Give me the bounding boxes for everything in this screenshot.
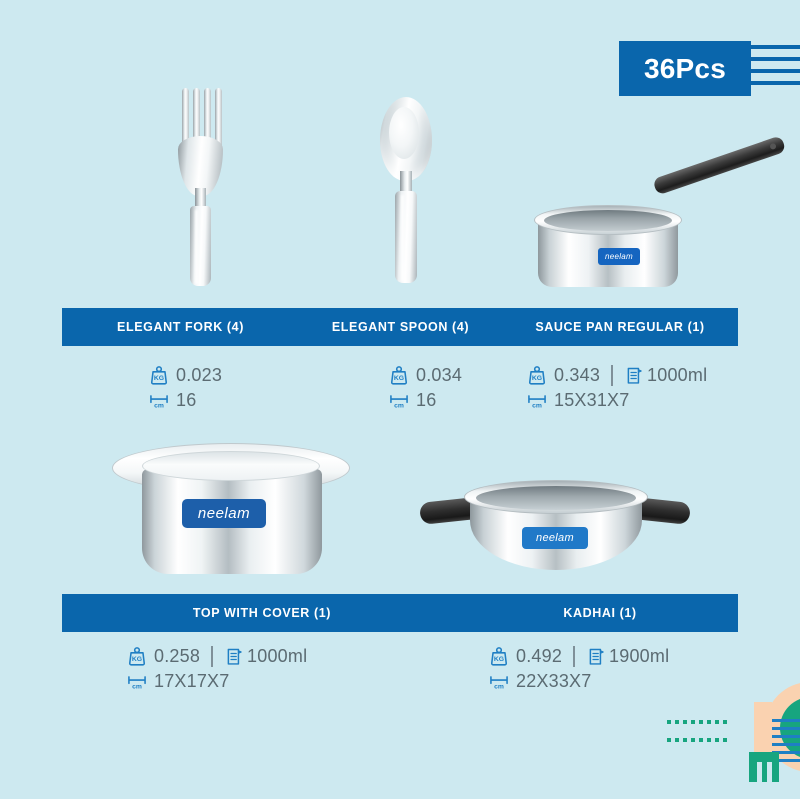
product-specs-kadhai: KG 0.492 1900ml cm 22X33X7 [488,645,669,695]
product-label-elegant-fork: ELEGANT FORK (4) [62,320,299,334]
spec-capacity-value: 1900ml [609,646,669,667]
spec-divider [611,365,613,386]
kadhai-interior [476,486,636,510]
product-image-top-with-cover: neelam [112,443,350,588]
svg-text:KG: KG [154,375,164,382]
deco-fork-shape [749,752,779,782]
brand-logo-badge: neelam [182,499,266,528]
spec-weight-value: 0.023 [176,365,222,386]
spec-weight-value: 0.258 [154,646,200,667]
kg-weight-icon: KG [126,645,148,667]
spec-length-line: cm 16 [148,389,222,411]
sauce-pan-interior [544,210,672,231]
piece-count-label: 36Pcs [644,55,726,83]
fork-head [178,136,223,196]
svg-text:KG: KG [132,656,142,663]
svg-text:KG: KG [494,656,504,663]
kg-weight-icon: KG [148,364,170,386]
kg-weight-icon: KG [488,645,510,667]
brand-logo-text: neelam [598,248,640,265]
cm-ruler-icon: cm [488,670,510,692]
spec-weight-capacity-line: KG 0.343 1000ml [526,364,707,386]
svg-text:cm: cm [494,683,504,690]
top-cover-lid-inner [142,451,320,481]
product-image-sauce-pan: neelam [530,175,795,290]
spec-length-value: 16 [416,390,436,411]
badge-accent-lines [750,45,800,93]
cm-ruler-icon: cm [148,389,170,411]
spec-dimensions-line: cm 15X31X7 [526,389,707,411]
spec-weight-value: 0.492 [516,646,562,667]
product-label-elegant-spoon: ELEGANT SPOON (4) [299,320,502,334]
product-label-sauce-pan: SAUCE PAN REGULAR (1) [502,320,738,334]
spec-dimensions-line: cm 22X33X7 [488,670,669,692]
product-label-bar-row-1: ELEGANT FORK (4) ELEGANT SPOON (4) SAUCE… [62,308,738,346]
product-specs-sauce-pan: KG 0.343 1000ml cm 15X31X7 [526,364,707,414]
measuring-jug-icon [224,646,245,667]
kg-weight-icon: KG [526,364,548,386]
svg-text:cm: cm [154,402,164,409]
kg-weight-icon: KG [388,364,410,386]
corner-decoration [650,690,800,799]
product-label-kadhai: KADHAI (1) [462,606,738,620]
spec-weight-value: 0.034 [416,365,462,386]
deco-dot-grid [667,716,731,752]
spec-weight-line: KG 0.023 [148,364,222,386]
svg-text:cm: cm [532,402,542,409]
spec-weight-capacity-line: KG 0.492 1900ml [488,645,669,667]
brand-logo-badge: neelam [522,527,588,549]
spec-divider [211,646,213,667]
piece-count-badge: 36Pcs [619,41,751,96]
svg-text:cm: cm [394,402,404,409]
svg-text:KG: KG [532,375,542,382]
product-image-elegant-fork [168,88,238,283]
spec-capacity-value: 1000ml [247,646,307,667]
product-image-elegant-spoon [378,97,436,283]
measuring-jug-icon [586,646,607,667]
measuring-jug-icon [624,365,645,386]
brand-logo-text: neelam [536,532,574,544]
product-label-bar-row-2: TOP WITH COVER (1) KADHAI (1) [62,594,738,632]
spec-weight-line: KG 0.034 [388,364,462,386]
spec-length-line: cm 16 [388,389,462,411]
product-image-kadhai: neelam [420,472,690,582]
infographic-canvas: 36Pcs neelam neelam [0,0,800,799]
spec-capacity-value: 1000ml [647,365,707,386]
svg-text:cm: cm [132,683,142,690]
brand-logo-badge: neelam [598,248,640,265]
spec-weight-value: 0.343 [554,365,600,386]
product-specs-elegant-fork: KG 0.023 cm 16 [148,364,222,414]
spoon-bowl [380,97,432,181]
spec-dimensions-value: 17X17X7 [154,671,229,692]
brand-logo-text: neelam [198,505,250,522]
spec-dimensions-value: 15X31X7 [554,390,629,411]
cm-ruler-icon: cm [126,670,148,692]
sauce-pan-handle [652,135,786,195]
spec-length-value: 16 [176,390,196,411]
svg-text:KG: KG [394,375,404,382]
spoon-handle [395,191,417,283]
spec-dimensions-line: cm 17X17X7 [126,670,307,692]
spec-divider [573,646,575,667]
cm-ruler-icon: cm [388,389,410,411]
spec-dimensions-value: 22X33X7 [516,671,591,692]
spec-weight-capacity-line: KG 0.258 1000ml [126,645,307,667]
fork-handle [190,206,211,286]
cm-ruler-icon: cm [526,389,548,411]
product-label-top-with-cover: TOP WITH COVER (1) [62,606,462,620]
product-specs-top-with-cover: KG 0.258 1000ml cm 17X17X7 [126,645,307,695]
product-specs-elegant-spoon: KG 0.034 cm 16 [388,364,462,414]
